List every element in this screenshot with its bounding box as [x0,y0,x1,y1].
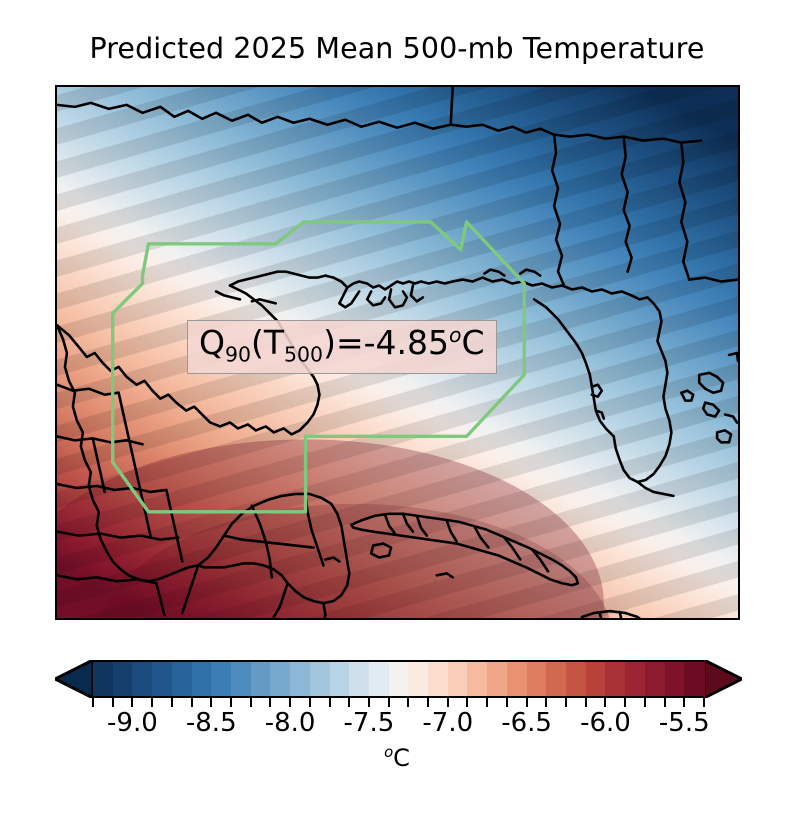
colorbar-segment [507,660,527,698]
colorbar-segment [665,660,685,698]
colorbar-tick [112,698,114,707]
colorbar-tick-label: -7.5 [344,708,395,738]
colorbar-tick [427,698,429,707]
colorbar-segment [605,660,625,698]
colorbar-segment [231,660,251,698]
colorbar-unit: C [393,744,410,772]
annotation-t: T [264,323,284,362]
colorbar-tick [407,698,409,707]
colorbar-tick [447,698,449,707]
colorbar-gradient [93,660,704,698]
colorbar-tick [644,698,646,707]
annotation-open-paren: ( [251,323,264,362]
figure-root: Predicted 2025 Mean 500-mb Temperature [0,0,794,816]
colorbar-tick [210,698,212,707]
colorbar-segment [448,660,468,698]
colorbar-tick [683,698,685,707]
colorbar-segment [684,660,704,698]
annotation-unit: C [462,323,485,362]
colorbar-tick [191,698,193,707]
colorbar-tick [171,698,173,707]
colorbar-tick [466,698,468,707]
annotation-degree: o [449,323,462,347]
colorbar-tick [289,698,291,707]
colorbar-tick [309,698,311,707]
colorbar-segment [172,660,192,698]
colorbar-tick-label: -6.0 [580,708,631,738]
colorbar-segment [310,660,330,698]
colorbar: -9.0-8.5-8.0-7.5-7.0-6.5-6.0-5.5 oC [0,655,794,795]
colorbar-tick [545,698,547,707]
colorbar-segment [211,660,231,698]
colorbar-extend-min-arrow [55,660,93,698]
colorbar-segment [645,660,665,698]
annotation-q: Q [199,323,225,362]
colorbar-tick [269,698,271,707]
colorbar-segment [408,660,428,698]
colorbar-segment [586,660,606,698]
colorbar-tick [388,698,390,707]
annotation-value: =-4.85 [336,323,449,362]
colorbar-segment [369,660,389,698]
colorbar-extend-max-arrow [704,660,742,698]
colorbar-segment [349,660,369,698]
colorbar-tick [526,698,528,707]
colorbar-segment [93,660,113,698]
colorbar-tick [506,698,508,707]
colorbar-tick-label: -8.5 [186,708,237,738]
colorbar-segment [290,660,310,698]
colorbar-segment [192,660,212,698]
colorbar-tick [486,698,488,707]
colorbar-tick-label: -5.5 [659,708,710,738]
colorbar-degree-symbol: o [384,743,393,761]
annotation-close-paren: ) [323,323,336,362]
colorbar-segment [428,660,448,698]
colorbar-tick [585,698,587,707]
colorbar-segment [487,660,507,698]
annotation-q-sub: 90 [225,343,251,367]
colorbar-segment [625,660,645,698]
map-panel: Q90(T500)=-4.85oC [55,85,740,620]
colorbar-tick [664,698,666,707]
colorbar-tick [348,698,350,707]
colorbar-tick [92,698,94,707]
figure-title: Predicted 2025 Mean 500-mb Temperature [0,32,794,65]
colorbar-segment [330,660,350,698]
colorbar-segment [527,660,547,698]
colorbar-tick [565,698,567,707]
colorbar-tick [230,698,232,707]
colorbar-tick [703,698,705,707]
colorbar-tick [604,698,606,707]
colorbar-tick-label: -9.0 [107,708,158,738]
colorbar-tick [250,698,252,707]
colorbar-segment [270,660,290,698]
colorbar-tick [151,698,153,707]
colorbar-tick [624,698,626,707]
colorbar-segment [389,660,409,698]
colorbar-axis-label: oC [0,743,794,772]
colorbar-tick [329,698,331,707]
colorbar-segment [251,660,271,698]
annotation-t-sub: 500 [284,343,323,367]
colorbar-tick-label: -6.5 [501,708,552,738]
colorbar-segment [546,660,566,698]
colorbar-tick-label: -8.0 [265,708,316,738]
quantile-annotation: Q90(T500)=-4.85oC [187,320,497,374]
colorbar-segment [566,660,586,698]
colorbar-segment [132,660,152,698]
colorbar-segment [467,660,487,698]
colorbar-tick-label: -7.0 [422,708,473,738]
colorbar-tick [131,698,133,707]
colorbar-segment [152,660,172,698]
colorbar-tick [368,698,370,707]
colorbar-segment [113,660,133,698]
